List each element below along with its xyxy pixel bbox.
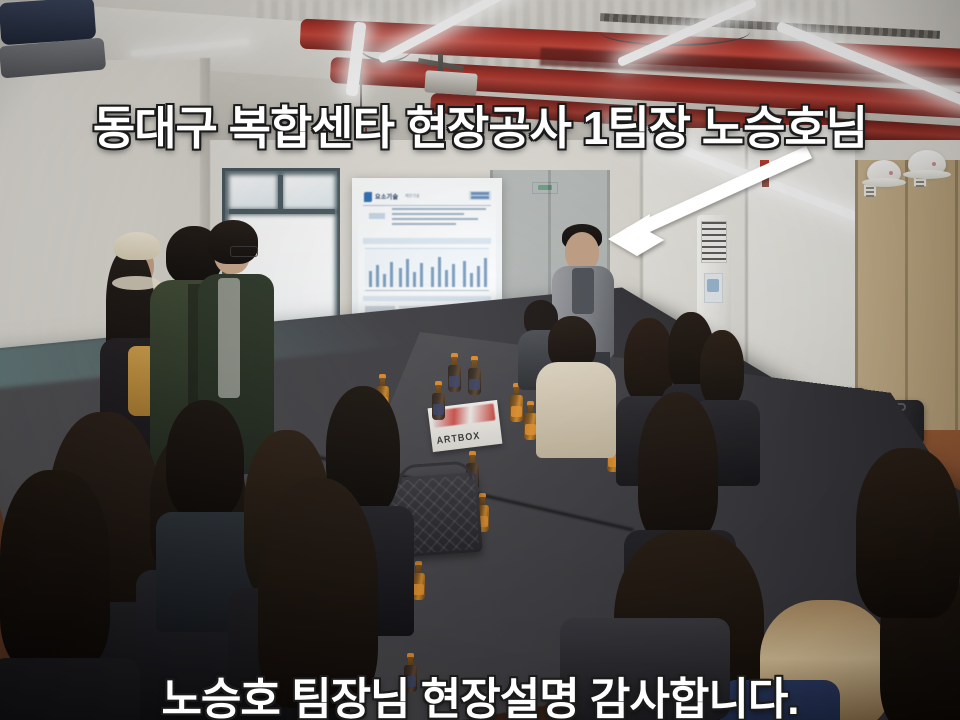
fire-alarm-box — [760, 160, 769, 176]
hard-hat — [867, 160, 901, 184]
slide-corner-badge — [469, 191, 491, 200]
caption-bottom: 노승호 팀장님 현장설명 감사합니다. — [0, 663, 960, 720]
beige-knit-sweater — [536, 362, 616, 458]
slide-title: 요소기술 — [375, 192, 398, 201]
slide-chart — [365, 248, 489, 287]
fire-alarm-box-shadow — [762, 177, 769, 187]
presenter-scarf — [572, 268, 594, 314]
eyeglasses — [230, 246, 258, 257]
ac-badge — [707, 279, 719, 292]
slide-section-band — [363, 238, 491, 244]
door-mullion — [229, 209, 335, 214]
caption-top: 동대구 복합센타 현장공사 1팀장 노승호님 — [0, 92, 960, 158]
slide-tag — [369, 213, 385, 219]
glass-pane — [283, 175, 335, 209]
photograph: 요소기술 제안기술 — [0, 0, 960, 720]
bottle — [468, 355, 481, 395]
bottle — [432, 380, 445, 420]
bottle — [448, 352, 461, 392]
slide-subtitle: 제안기술 — [405, 193, 420, 199]
artbox-label: ARTBOX — [436, 430, 481, 446]
door-mullion — [278, 175, 283, 209]
slide-section-band — [363, 296, 491, 301]
slide-bullets — [392, 208, 492, 228]
glass-pane — [229, 175, 277, 209]
ac-vent-icon — [701, 221, 727, 263]
slide-logo-icon — [364, 192, 372, 202]
